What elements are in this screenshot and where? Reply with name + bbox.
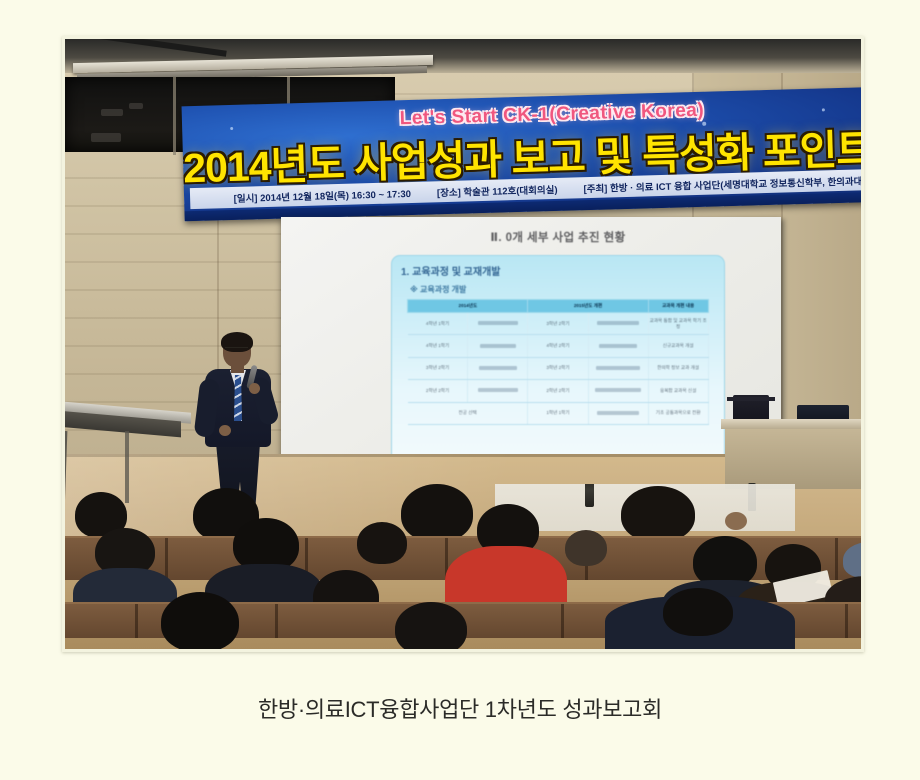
slide-subsection-heading: ※ 교육과정 개발 [410, 284, 715, 295]
audience-head [725, 512, 747, 530]
presenter-hand-left [219, 425, 231, 436]
banner-info-host: [주최] 한방 · 의료 ICT 융합 사업단(세명대학교 정보통신학부, 한의… [583, 173, 861, 195]
event-banner: Let's Start CK-1(Creative Korea) 2014년도 … [182, 86, 861, 222]
cell [468, 380, 528, 402]
cell [588, 380, 648, 402]
av-equipment-handle [727, 397, 775, 401]
table-row: 전공 선택 1학년 1학기 기초 공통과목으로 전환 [408, 402, 708, 424]
slide-content-card: 1. 교육과정 및 교재개발 ※ 교육과정 개발 2014년도 2015년도 개… [391, 255, 725, 471]
cell: 2학년 2학기 [528, 380, 588, 402]
table-row: 3학년 2학기 3학년 2학기 한의학 정보 교과 개설 [408, 357, 708, 379]
cell [588, 402, 648, 424]
cell: 기초 공통과목으로 전환 [648, 402, 708, 424]
seat-divider [561, 604, 564, 638]
cell: 전공 선택 [408, 402, 528, 424]
cell [588, 335, 648, 357]
cell: 3학년 2학기 [528, 313, 588, 335]
presentation-slide: Ⅱ. 0개 세부 사업 추진 현황 1. 교육과정 및 교재개발 ※ 교육과정 … [383, 225, 733, 489]
slide-table: 2014년도 2015년도 개편 교과목 개편 내용 4학년 1학기 3학년 2… [407, 299, 708, 425]
audience-head [401, 484, 473, 542]
table-row: 4학년 1학기 4학년 2학기 신규교과목 개설 [408, 335, 708, 357]
slide-table-body: 4학년 1학기 3학년 2학기 교과목 통합 및 교과목 학기 조정 4학년 1… [408, 313, 708, 425]
cell: 4학년 1학기 [408, 335, 468, 357]
slide-section-heading: 1. 교육과정 및 교재개발 [401, 263, 715, 278]
slide-table-col-changes: 교과목 개편 내용 [648, 300, 708, 313]
water-bottle [585, 484, 594, 507]
presenter-glasses [225, 347, 248, 353]
cell: 2학년 2학기 [408, 380, 468, 402]
audience-head [357, 522, 407, 564]
booth-reflection [129, 103, 143, 109]
slide-table-col-2015: 2015년도 개편 [528, 300, 648, 313]
page-root: Let's Start CK-1(Creative Korea) 2014년도 … [0, 0, 920, 780]
seat-divider [275, 604, 278, 638]
cell: 3학년 2학기 [408, 357, 468, 379]
slide-title: Ⅱ. 0개 세부 사업 추진 현황 [383, 229, 733, 245]
side-table-top [721, 419, 861, 429]
audience-head [663, 588, 733, 636]
cell: 교과목 통합 및 교과목 학기 조정 [648, 313, 708, 335]
photo-frame: Let's Start CK-1(Creative Korea) 2014년도 … [62, 36, 864, 652]
cell: 한의학 정보 교과 개설 [648, 357, 708, 379]
table-row: 4학년 1학기 3학년 2학기 교과목 통합 및 교과목 학기 조정 [408, 313, 708, 335]
audience-head [161, 592, 239, 649]
cell: 신규교과목 개설 [648, 335, 708, 357]
seat-divider [845, 604, 848, 638]
seat-divider [165, 538, 168, 580]
cell: 3학년 2학기 [528, 357, 588, 379]
seat-divider [835, 538, 838, 580]
cell [588, 313, 648, 335]
cell [468, 357, 528, 379]
presenter-hand-right [249, 383, 260, 394]
side-table-body [725, 429, 861, 489]
cell: 4학년 2학기 [528, 335, 588, 357]
cell [588, 357, 648, 379]
audience-area [65, 484, 861, 649]
presenter-necktie [234, 375, 242, 421]
cell: 4학년 1학기 [408, 313, 468, 335]
cell: 1학년 1학기 [528, 402, 588, 424]
audience-head [621, 486, 695, 542]
seat-divider [135, 604, 138, 638]
photo-caption: 한방·의료ICT융합사업단 1차년도 성과보고회 [0, 692, 920, 724]
cell [468, 313, 528, 335]
slide-table-header-row: 2014년도 2015년도 개편 교과목 개편 내용 [408, 300, 708, 313]
cell: 융복합 교과목 신설 [648, 380, 708, 402]
booth-reflection [91, 133, 121, 142]
booth-mullion [173, 77, 176, 155]
cell [468, 335, 528, 357]
auditorium-photo: Let's Start CK-1(Creative Korea) 2014년도 … [65, 39, 861, 649]
banner-info-place: [장소] 학술관 112호(대회의실) [437, 181, 558, 198]
banner-info-date: [일시] 2014년 12월 18일(목) 16:30 ~ 17:30 [233, 185, 411, 204]
table-row: 2학년 2학기 2학년 2학기 융복합 교과목 신설 [408, 380, 708, 402]
audience-head [395, 602, 467, 649]
slide-table-col-2014: 2014년도 [408, 300, 528, 313]
audience-head [565, 530, 607, 566]
booth-reflection [101, 109, 123, 116]
